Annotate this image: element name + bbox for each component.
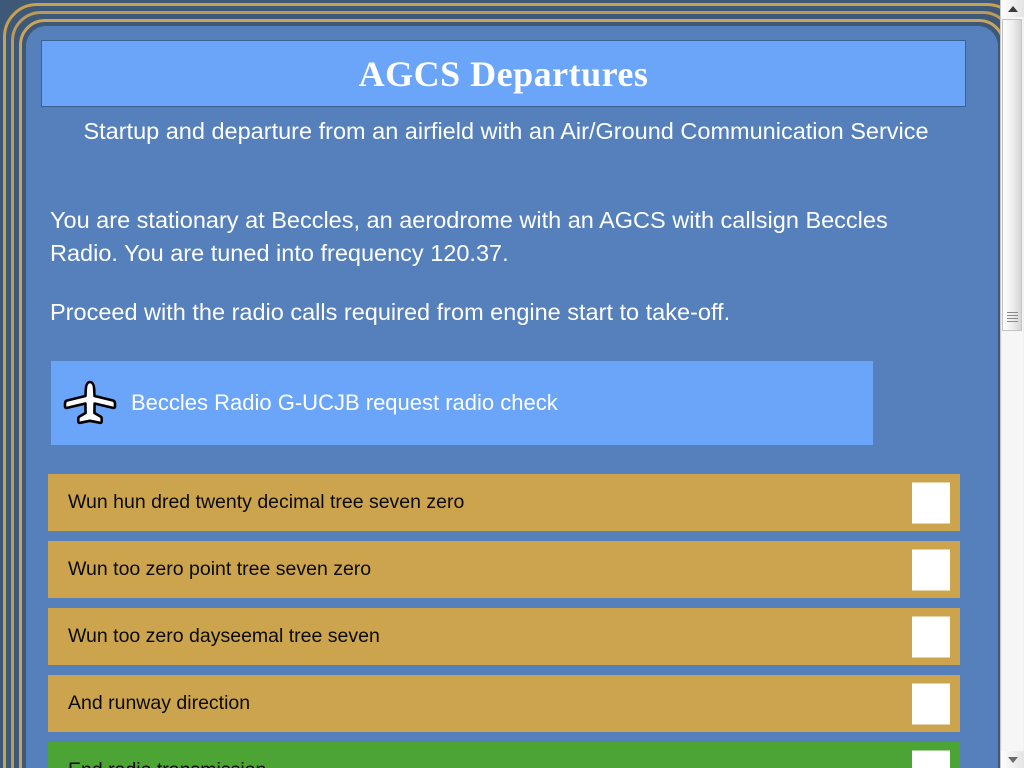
scroll-down-button[interactable] <box>1001 751 1024 768</box>
option-checkbox-3[interactable] <box>912 616 950 657</box>
application-window: AGCS Departures Startup and departure fr… <box>0 0 1024 768</box>
option-checkbox-4[interactable] <box>912 683 950 724</box>
option-row-5[interactable]: End radio transmission <box>48 742 960 768</box>
option-row-2[interactable]: Wun too zero point tree seven zero <box>48 541 960 598</box>
airplane-icon <box>63 380 117 426</box>
scrollbar-grip-icon <box>1007 312 1018 324</box>
option-checkbox-5[interactable] <box>912 750 950 768</box>
briefing-paragraph-1: You are stationary at Beccles, an aerodr… <box>50 204 962 270</box>
radio-message-text: Beccles Radio G-UCJB request radio check <box>131 390 558 416</box>
briefing-text: You are stationary at Beccles, an aerodr… <box>50 204 962 329</box>
option-label-4: And runway direction <box>68 692 250 715</box>
content-panel: AGCS Departures Startup and departure fr… <box>26 26 998 768</box>
briefing-paragraph-2: Proceed with the radio calls required fr… <box>50 296 962 329</box>
option-checkbox-2[interactable] <box>912 549 950 590</box>
answer-options-list: Wun hun dred twenty decimal tree seven z… <box>48 474 960 768</box>
page-subtitle: Startup and departure from an airfield w… <box>66 114 946 148</box>
option-label-2: Wun too zero point tree seven zero <box>68 558 371 581</box>
page-title: AGCS Departures <box>359 53 649 95</box>
scroll-down-arrow-icon <box>1008 757 1018 763</box>
option-row-1[interactable]: Wun hun dred twenty decimal tree seven z… <box>48 474 960 531</box>
option-checkbox-1[interactable] <box>912 482 950 523</box>
option-row-4[interactable]: And runway direction <box>48 675 960 732</box>
radio-message-bar[interactable]: Beccles Radio G-UCJB request radio check <box>51 361 873 445</box>
vertical-scrollbar[interactable] <box>1000 0 1024 768</box>
option-label-5: End radio transmission <box>68 759 266 768</box>
option-row-3[interactable]: Wun too zero dayseemal tree seven <box>48 608 960 665</box>
page-title-banner: AGCS Departures <box>41 40 966 107</box>
option-label-1: Wun hun dred twenty decimal tree seven z… <box>68 491 464 514</box>
scroll-up-arrow-icon <box>1008 6 1018 12</box>
scrollbar-thumb[interactable] <box>1002 19 1022 331</box>
scroll-up-button[interactable] <box>1001 0 1024 17</box>
option-label-3: Wun too zero dayseemal tree seven <box>68 625 380 648</box>
